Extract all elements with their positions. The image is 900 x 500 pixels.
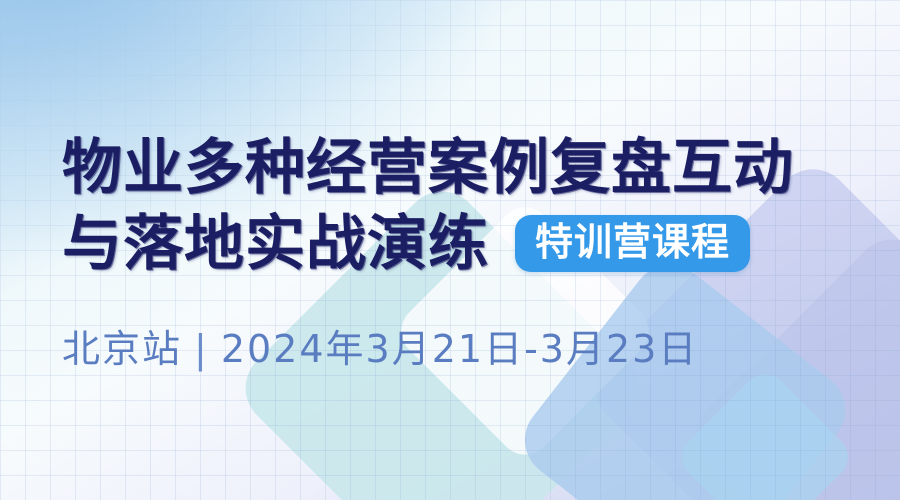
banner-title-line-1: 物业多种经营案例复盘互动 (62, 138, 900, 198)
title-block: 物业多种经营案例复盘互动 与落地实战演练 特训营课程 (62, 138, 900, 274)
course-type-badge: 特训营课程 (515, 215, 750, 273)
subtitle-separator: | (182, 327, 221, 371)
event-location-and-date: 北京站|2024年3月21日-3月23日 (62, 318, 900, 373)
event-city: 北京站 (62, 327, 182, 371)
title-row-with-badge: 与落地实战演练 特训营课程 (62, 214, 900, 274)
course-promo-banner: 物业多种经营案例复盘互动 与落地实战演练 特训营课程 北京站|2024年3月21… (0, 0, 900, 500)
banner-content: 物业多种经营案例复盘互动 与落地实战演练 特训营课程 北京站|2024年3月21… (0, 0, 900, 500)
event-dates: 2024年3月21日-3月23日 (221, 327, 698, 371)
banner-title-line-2: 与落地实战演练 (62, 214, 489, 274)
